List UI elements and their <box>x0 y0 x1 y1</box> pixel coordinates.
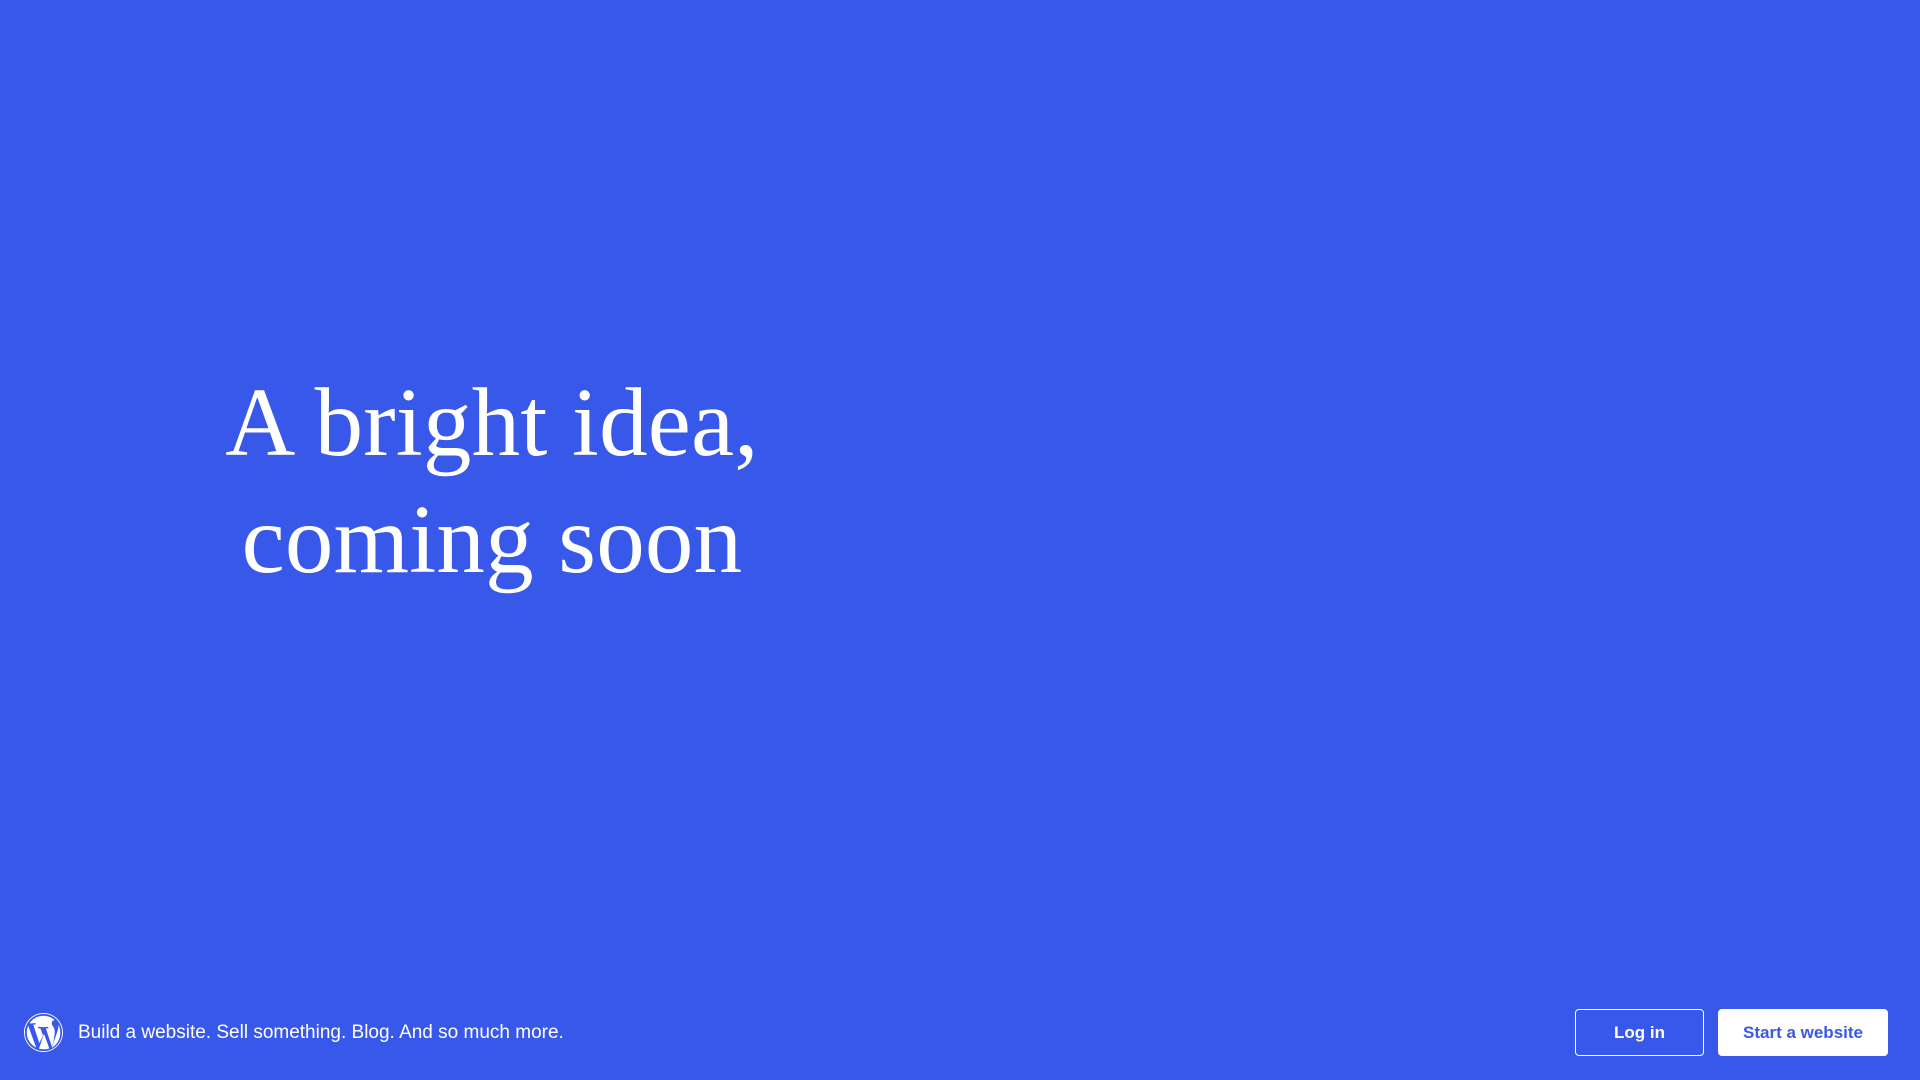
footer-bar: Build a website. Sell something. Blog. A… <box>0 985 1920 1080</box>
wordpress-logo-icon <box>24 1013 63 1052</box>
coming-soon-page: A bright idea, coming soon Build a websi… <box>0 0 1920 1080</box>
footer-actions: Log in Start a website <box>1575 1009 1888 1056</box>
footer-tagline: Build a website. Sell something. Blog. A… <box>78 1021 564 1045</box>
hero-section: A bright idea, coming soon <box>0 0 940 985</box>
footer-branding: Build a website. Sell something. Blog. A… <box>24 1013 1575 1052</box>
log-in-button[interactable]: Log in <box>1575 1009 1704 1056</box>
start-a-website-button[interactable]: Start a website <box>1718 1009 1888 1056</box>
wordpress-logo[interactable] <box>24 1013 63 1052</box>
hero-content: A bright idea, coming soon <box>120 364 820 598</box>
page-title: A bright idea, coming soon <box>164 364 820 598</box>
